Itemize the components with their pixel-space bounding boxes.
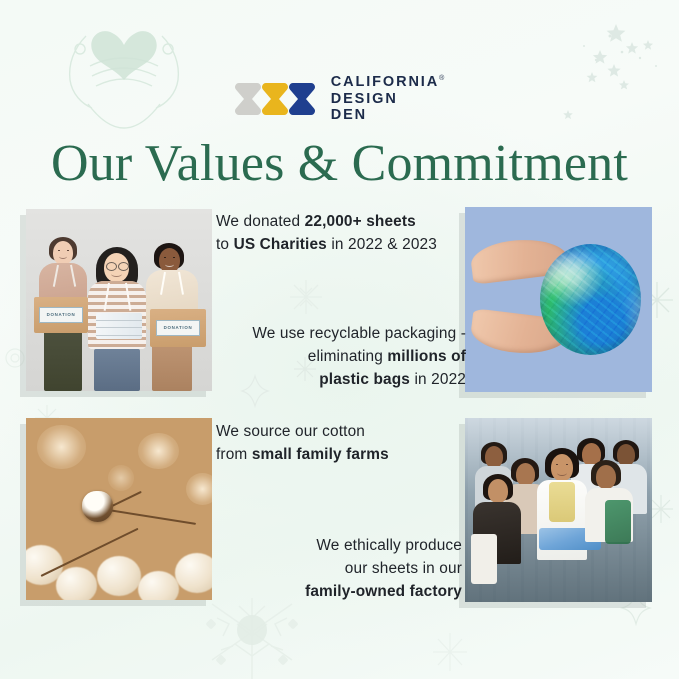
statement-emphasis: plastic bags — [319, 371, 410, 388]
statement-line: eliminating millions of — [208, 345, 466, 368]
photo-cotton-field — [26, 418, 212, 600]
statement-line: plastic bags in 2022 — [208, 368, 466, 391]
page-title: Our Values & Commitment — [0, 137, 679, 192]
sparkle-icon — [288, 278, 324, 316]
statement-text: We ethically produce — [316, 537, 462, 554]
sparkle-icon — [430, 630, 470, 674]
statement-text: to — [216, 236, 234, 253]
statement-line: We source our cotton — [216, 420, 470, 443]
registered-mark: ® — [439, 75, 444, 82]
cotton-boll-icon — [82, 491, 114, 522]
statement-text: We donated — [216, 213, 305, 230]
donation-box-right: DONATION — [150, 309, 206, 347]
statement-line: from small family farms — [216, 443, 470, 466]
donation-box-label: DONATION — [39, 307, 82, 323]
statement-text: in 2022 & 2023 — [327, 236, 437, 253]
photo-donation: DONATION — [26, 209, 212, 391]
statement-emphasis: small family farms — [252, 446, 389, 463]
statement-cotton: We source our cottonfrom small family fa… — [216, 420, 470, 466]
logo-line-california: CALIFORNIA® — [331, 74, 445, 91]
statement-text: eliminating — [308, 348, 388, 365]
logo-line-den: DEN — [331, 107, 445, 124]
statement-line: We ethically produce — [206, 534, 462, 557]
donation-box-left: DONATION — [34, 297, 88, 333]
statement-donation: We donated 22,000+ sheetsto US Charities… — [216, 210, 466, 256]
logo-chevrons-icon — [235, 77, 319, 121]
statement-line: We use recyclable packaging - — [208, 322, 466, 345]
statement-line: our sheets in our — [206, 557, 462, 580]
statement-emphasis: family-owned factory — [305, 583, 462, 600]
statement-factory: We ethically produceour sheets in ourfam… — [206, 534, 462, 603]
statement-emphasis: millions of — [387, 348, 466, 365]
statement-line: to US Charities in 2022 & 2023 — [216, 233, 466, 256]
brand-logo: CALIFORNIA® DESIGN DEN — [0, 74, 679, 124]
logo-text-california: CALIFORNIA — [331, 74, 439, 90]
statement-line: family-owned factory — [206, 580, 462, 603]
plastic-bag-globe-icon — [540, 244, 641, 355]
statement-line: We donated 22,000+ sheets — [216, 210, 466, 233]
statement-emphasis: 22,000+ sheets — [305, 213, 416, 230]
infographic-canvas: CALIFORNIA® DESIGN DEN Our Values & Comm… — [0, 0, 679, 679]
folded-sheets — [96, 313, 142, 339]
statement-emphasis: US Charities — [234, 236, 327, 253]
donation-box-label: DONATION — [156, 320, 201, 336]
statement-text: our sheets in our — [345, 560, 462, 577]
statement-text: We use recyclable packaging - — [252, 325, 466, 342]
statement-packaging: We use recyclable packaging -eliminating… — [208, 322, 466, 391]
photo-factory-workers — [465, 418, 652, 602]
statement-text: in 2022 — [410, 371, 466, 388]
statement-text: from — [216, 446, 252, 463]
snowflake-icon — [177, 598, 327, 679]
statement-text: We source our cotton — [216, 423, 365, 440]
logo-wordmark: CALIFORNIA® DESIGN DEN — [331, 74, 445, 124]
logo-line-design: DESIGN — [331, 91, 445, 108]
photo-plastic-globe — [465, 207, 652, 392]
